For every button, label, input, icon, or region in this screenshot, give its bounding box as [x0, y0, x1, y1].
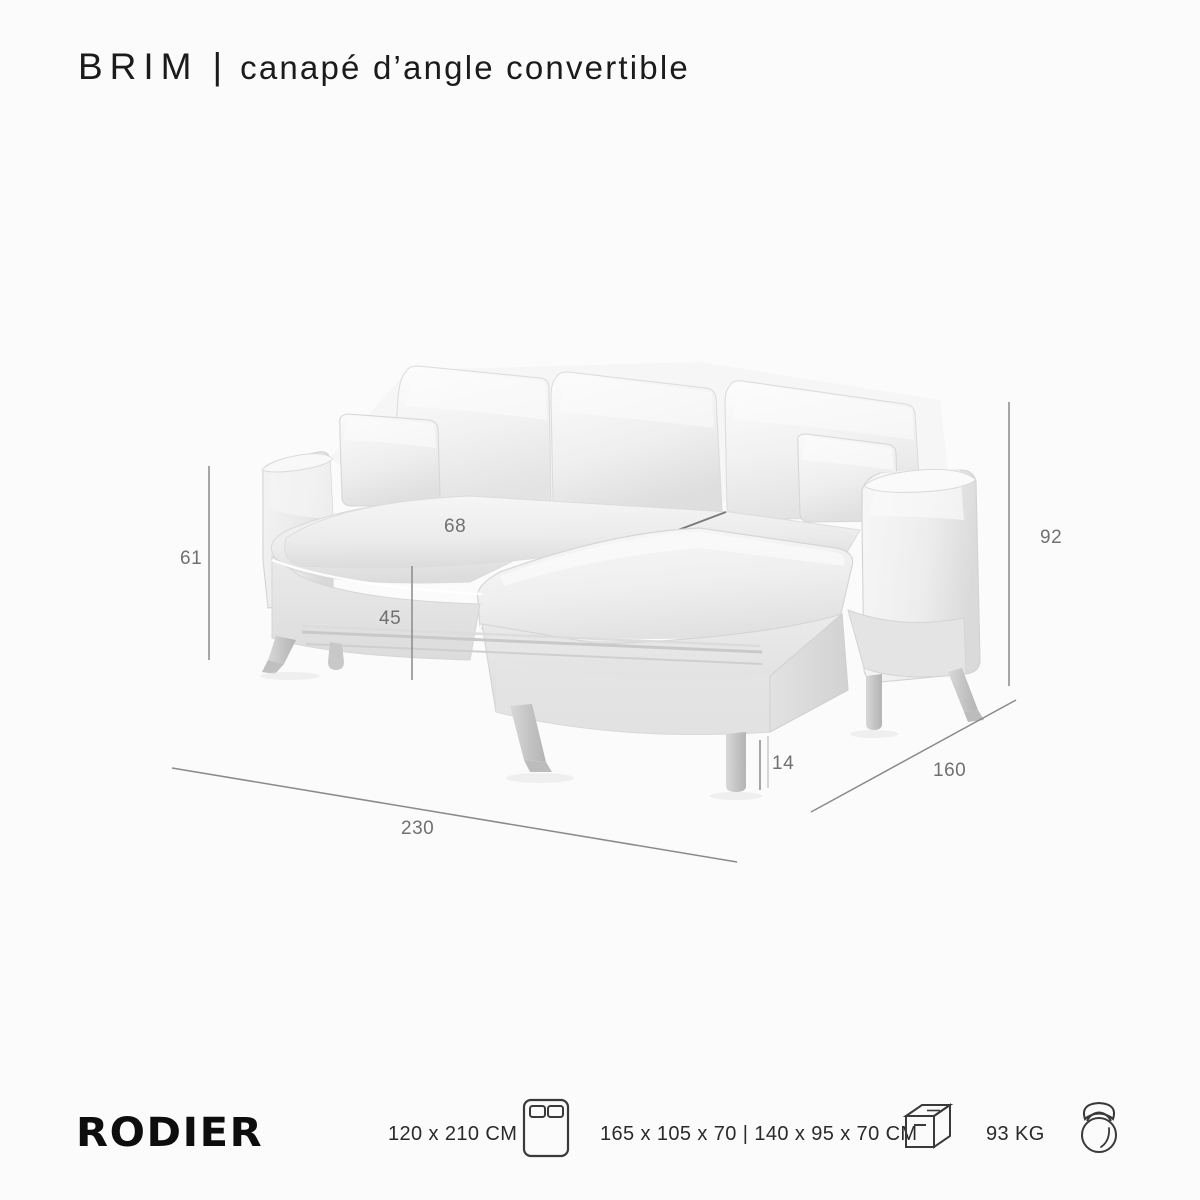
sofa-illustration [0, 0, 1200, 1060]
kettlebell-icon [1072, 1097, 1126, 1164]
dimension-label-back-height: 61 [180, 548, 202, 570]
product-spec-sheet: BRIM | canapé d’angle convertible [0, 0, 1200, 1200]
packaging-dimensions-label: 165 x 105 x 70 | 140 x 95 x 70 CM [600, 1123, 917, 1146]
dimension-label-width: 230 [401, 818, 434, 840]
bed-icon [521, 1097, 571, 1164]
dimension-label-seat-height: 45 [379, 608, 401, 630]
dimension-line-230 [172, 768, 737, 862]
bed-size-label: 120 x 210 CM [388, 1123, 517, 1146]
dimension-label-depth: 160 [933, 760, 966, 782]
dimension-label-seat-depth: 68 [444, 516, 466, 538]
dimension-label-total-height: 92 [1040, 527, 1062, 549]
box-icon [900, 1097, 958, 1164]
weight-label: 93 KG [986, 1123, 1045, 1146]
brand-logo: RODIER [76, 1110, 263, 1156]
dimension-line-160 [811, 700, 1016, 812]
dimension-label-leg-height: 14 [772, 753, 794, 775]
sofa-graphic [260, 362, 984, 800]
